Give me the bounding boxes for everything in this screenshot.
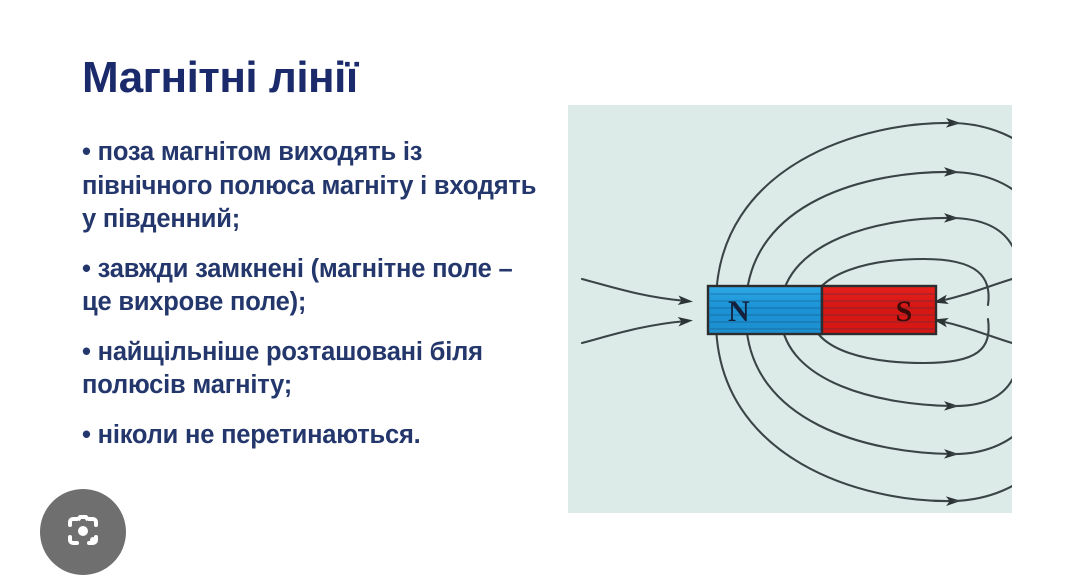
- bullet-list: • поза магнітом виходять із північного п…: [82, 136, 542, 452]
- google-lens-button[interactable]: [40, 489, 126, 575]
- field-line-upper-outer: [716, 123, 954, 301]
- magnet-south-label: S: [896, 295, 913, 328]
- page-title: Магнітні лінії: [82, 54, 542, 102]
- field-line-stub-left-lower: [582, 321, 686, 343]
- magnet-north-label: N: [728, 295, 750, 328]
- list-item: • завжди замкнені (магнітне поле – це ви…: [82, 253, 542, 319]
- lens-camera-icon: [60, 511, 106, 553]
- field-line-upper-inner-tail: [952, 218, 1012, 305]
- magnetic-field-diagram: N S: [568, 105, 1012, 513]
- field-line-upper-middle: [746, 172, 952, 303]
- bar-magnet: N S: [708, 286, 936, 334]
- list-item: • поза магнітом виходять із північного п…: [82, 136, 542, 235]
- field-line-lower-middle: [746, 321, 952, 454]
- list-item: • ніколи не перетинаються.: [82, 419, 542, 452]
- magnet-north-half: [708, 286, 822, 334]
- field-line-upper-outer-tail: [954, 123, 1012, 301]
- field-line-lower-outer-tail: [954, 323, 1012, 501]
- field-line-stub-right-lower: [940, 321, 1012, 343]
- field-line-stub-right-upper: [940, 279, 1012, 301]
- field-line-lower-outer: [716, 323, 954, 501]
- field-line-upper-middle-tail: [952, 172, 1012, 303]
- text-column: Магнітні лінії • поза магнітом виходять …: [82, 54, 542, 453]
- list-item: • найщільніше розташовані біля полюсів м…: [82, 336, 542, 402]
- field-line-stub-left-upper: [582, 279, 686, 301]
- magnet-south-half: [822, 286, 936, 334]
